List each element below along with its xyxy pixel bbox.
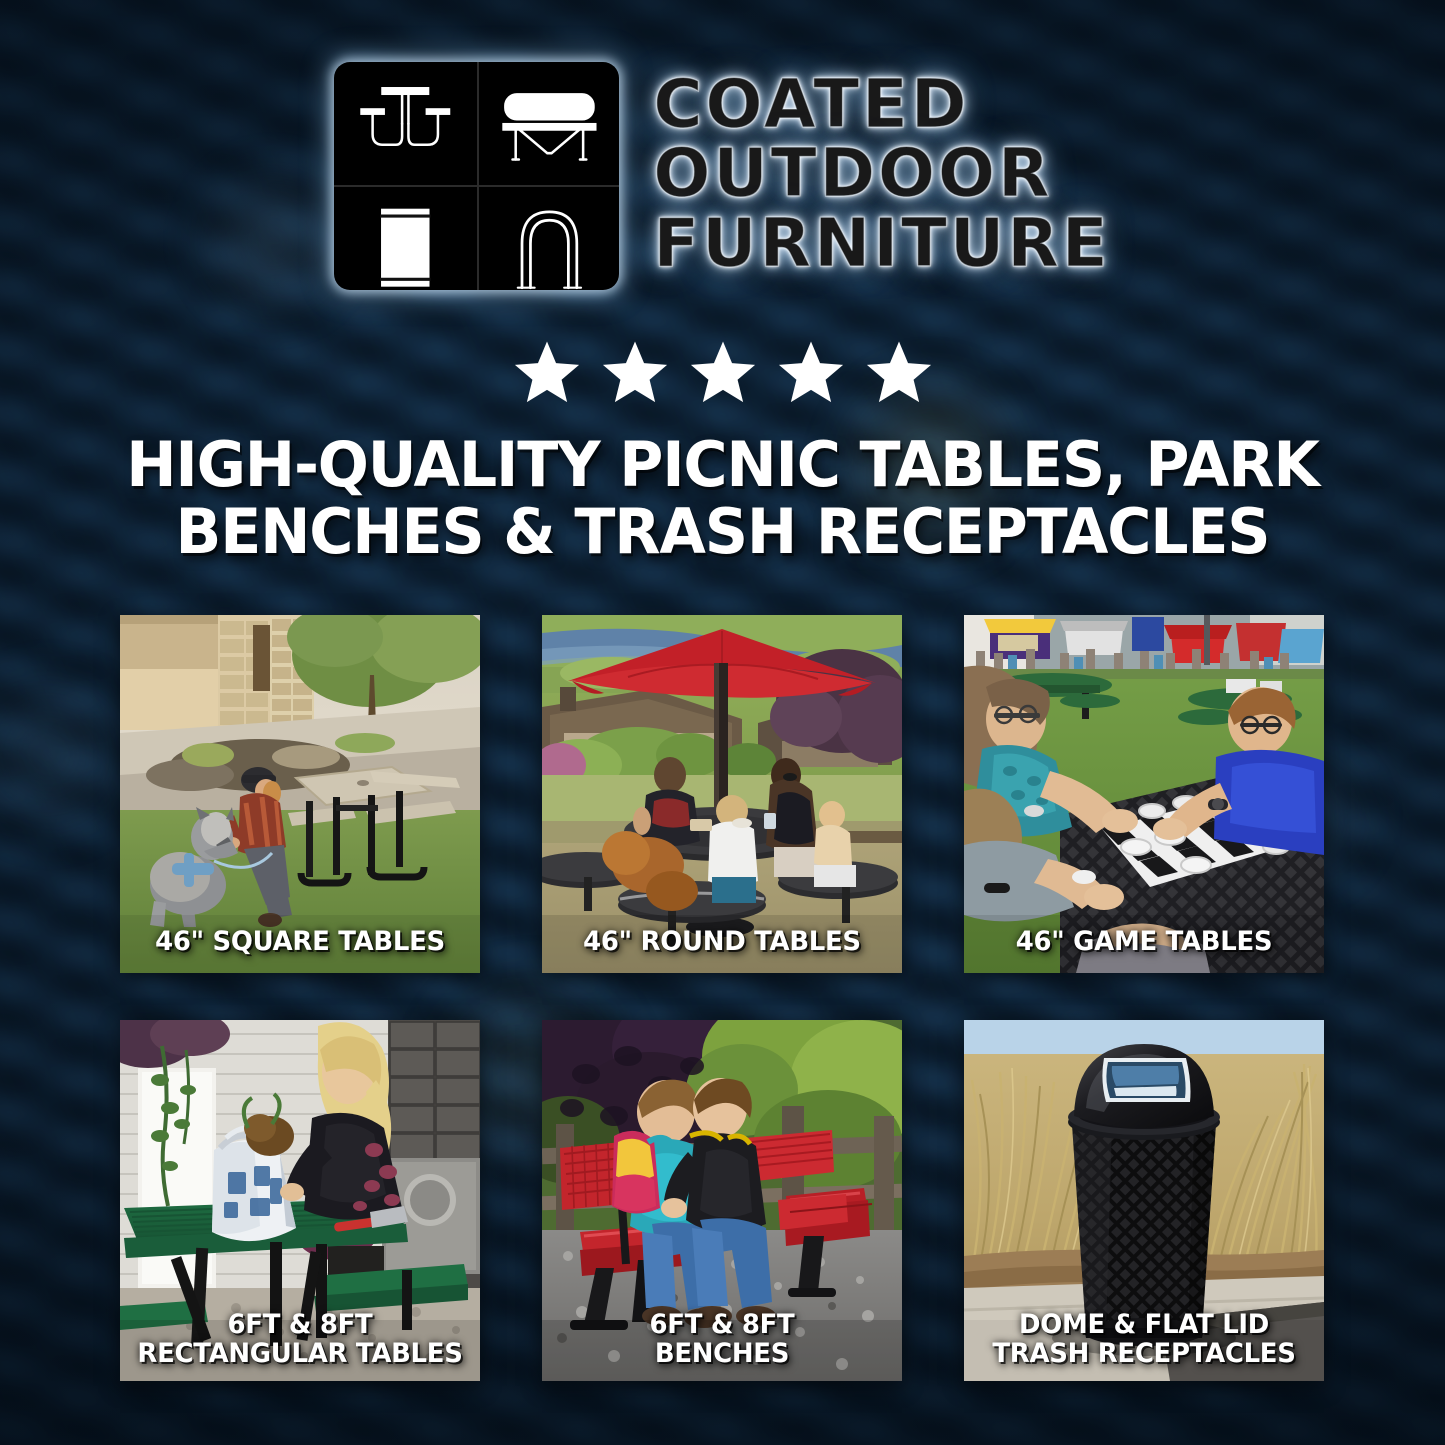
caption-line-1: 46" ROUND TABLES (555, 927, 889, 957)
product-caption-square-tables: 46" SQUARE TABLES (127, 927, 473, 957)
product-tile-benches[interactable]: 6FT & 8FT BENCHES (542, 1020, 902, 1381)
caption-line-2: BENCHES (555, 1339, 889, 1369)
product-photo-square-tables (120, 615, 480, 973)
product-grid: 46" SQUARE TABLES (120, 615, 1325, 1381)
headline-line-1: HIGH-QUALITY PICNIC TABLES, PARK (22, 432, 1424, 499)
brand-logo: COATED OUTDOOR FURNITURE (0, 62, 1445, 290)
caption-line-1: 46" SQUARE TABLES (133, 927, 467, 957)
caption-line-1: DOME & FLAT LID (977, 1310, 1311, 1340)
picnic-table-icon (334, 62, 477, 185)
star-icon (863, 338, 935, 408)
brand-name-line-2: OUTDOOR (653, 141, 1110, 207)
brand-name-line-1: COATED (653, 72, 1110, 138)
product-tile-square-tables[interactable]: 46" SQUARE TABLES (120, 615, 480, 973)
product-tile-game-tables[interactable]: 46" GAME TABLES (964, 615, 1324, 973)
caption-line-2: RECTANGULAR TABLES (133, 1339, 467, 1369)
product-tile-trash-receptacles[interactable]: DOME & FLAT LID TRASH RECEPTACLES (964, 1020, 1324, 1381)
caption-line-1: 6FT & 8FT (133, 1310, 467, 1340)
headline-line-2: BENCHES & TRASH RECEPTACLES (22, 499, 1424, 566)
product-caption-trash-receptacles: DOME & FLAT LID TRASH RECEPTACLES (971, 1310, 1317, 1369)
logo-icon-grid (334, 62, 619, 290)
product-caption-round-tables: 46" ROUND TABLES (549, 927, 895, 957)
brand-wordmark: COATED OUTDOOR FURNITURE (653, 72, 1110, 281)
star-icon (775, 338, 847, 408)
caption-line-2: TRASH RECEPTACLES (977, 1339, 1311, 1369)
brand-name-line-3: FURNITURE (653, 211, 1110, 277)
trash-receptacle-icon (334, 185, 477, 290)
poster-canvas: COATED OUTDOOR FURNITURE HIGH-QUALITY PI… (0, 0, 1445, 1445)
product-tile-rectangular-tables[interactable]: 6FT & 8FT RECTANGULAR TABLES (120, 1020, 480, 1381)
caption-line-1: 6FT & 8FT (555, 1310, 889, 1340)
product-caption-game-tables: 46" GAME TABLES (971, 927, 1317, 957)
star-icon (687, 338, 759, 408)
caption-line-1: 46" GAME TABLES (977, 927, 1311, 957)
product-tile-round-tables[interactable]: 46" ROUND TABLES (542, 615, 902, 973)
star-icon (511, 338, 583, 408)
product-photo-round-tables (542, 615, 902, 973)
product-photo-game-tables (964, 615, 1324, 973)
star-rating (0, 338, 1445, 408)
park-bench-icon (477, 62, 620, 185)
product-caption-rectangular-tables: 6FT & 8FT RECTANGULAR TABLES (127, 1310, 473, 1369)
page-title: HIGH-QUALITY PICNIC TABLES, PARK BENCHES… (0, 432, 1445, 566)
star-icon (599, 338, 671, 408)
product-caption-benches: 6FT & 8FT BENCHES (549, 1310, 895, 1369)
bike-rack-icon (477, 185, 620, 290)
